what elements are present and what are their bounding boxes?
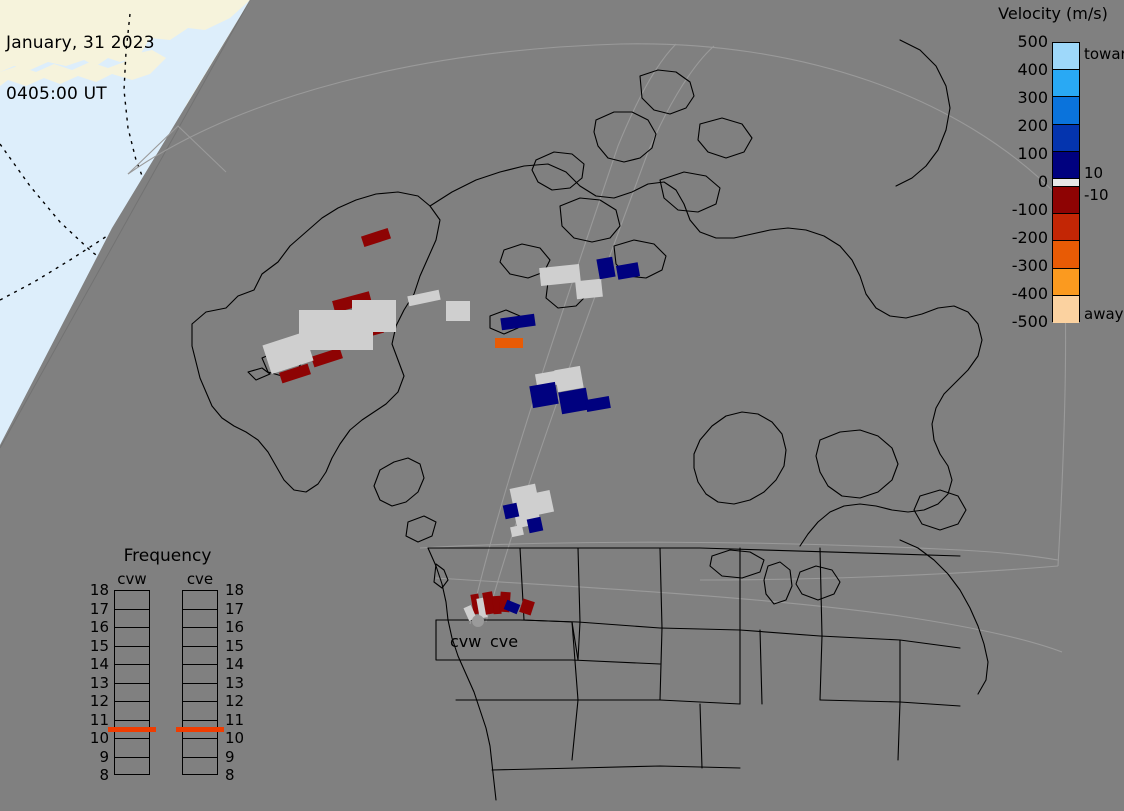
frequency-tick-right-13: 13 bbox=[225, 677, 244, 690]
frequency-tick-left-8: 8 bbox=[99, 769, 109, 782]
frequency-legend-title: Frequency bbox=[85, 546, 250, 566]
velocity-tick--200: -200 bbox=[1012, 231, 1048, 245]
radar-cell bbox=[527, 517, 544, 534]
frequency-marker-cve bbox=[176, 727, 224, 732]
velocity-band-250 bbox=[1053, 97, 1079, 124]
frequency-segment bbox=[183, 758, 217, 777]
velocity-tick--300: -300 bbox=[1012, 259, 1048, 273]
frequency-segment bbox=[183, 610, 217, 629]
radar-site-dot bbox=[472, 615, 484, 627]
frequency-tick-right-18: 18 bbox=[225, 584, 244, 597]
frequency-tick-right-16: 16 bbox=[225, 621, 244, 634]
frequency-segment bbox=[115, 628, 149, 647]
frequency-segment bbox=[183, 684, 217, 703]
velocity-gs-upper-label: 10 bbox=[1084, 166, 1103, 180]
frequency-tick-right-9: 9 bbox=[225, 751, 235, 764]
velocity-tick-300: 300 bbox=[1017, 91, 1048, 105]
velocity-tick-200: 200 bbox=[1017, 119, 1048, 133]
timestamp-date: January, 31 2023 bbox=[6, 35, 155, 52]
velocity-gs-lower-label: -10 bbox=[1084, 188, 1109, 202]
frequency-tick-left-18: 18 bbox=[90, 584, 109, 597]
frequency-column-label-cve: cve bbox=[173, 570, 227, 588]
velocity-band-450 bbox=[1053, 43, 1079, 70]
radar-cell bbox=[503, 503, 520, 520]
frequency-segment bbox=[183, 647, 217, 666]
velocity-tick--100: -100 bbox=[1012, 203, 1048, 217]
frequency-tick-right-11: 11 bbox=[225, 714, 244, 727]
velocity-legend-title: Velocity (m/s) bbox=[982, 4, 1124, 23]
frequency-tick-right-12: 12 bbox=[225, 695, 244, 708]
frequency-tick-left-10: 10 bbox=[90, 732, 109, 745]
radar-cell bbox=[352, 300, 396, 332]
velocity-band--350 bbox=[1053, 269, 1079, 296]
velocity-band--250 bbox=[1053, 241, 1079, 268]
frequency-bar-cvw bbox=[114, 590, 150, 775]
frequency-tick-left-15: 15 bbox=[90, 640, 109, 653]
frequency-segment bbox=[183, 702, 217, 721]
frequency-segment bbox=[115, 610, 149, 629]
frequency-tick-left-12: 12 bbox=[90, 695, 109, 708]
frequency-column-label-cvw: cvw bbox=[105, 570, 159, 588]
timestamp-block: January, 31 2023 0405:00 UT bbox=[6, 1, 155, 137]
frequency-segment bbox=[115, 665, 149, 684]
superdarn-map-view: January, 31 2023 0405:00 UT cvw cve Velo… bbox=[0, 0, 1124, 811]
velocity-tick-400: 400 bbox=[1017, 63, 1048, 77]
frequency-segment bbox=[115, 702, 149, 721]
radar-cell bbox=[596, 257, 615, 279]
frequency-tick-left-13: 13 bbox=[90, 677, 109, 690]
frequency-tick-right-8: 8 bbox=[225, 769, 235, 782]
velocity-band--50 bbox=[1053, 187, 1079, 214]
frequency-tick-right-14: 14 bbox=[225, 658, 244, 671]
frequency-segment bbox=[183, 739, 217, 758]
frequency-tick-left-11: 11 bbox=[90, 714, 109, 727]
frequency-segment bbox=[115, 684, 149, 703]
station-label-cve: cve bbox=[490, 632, 518, 651]
velocity-band--150 bbox=[1053, 214, 1079, 241]
frequency-tick-left-16: 16 bbox=[90, 621, 109, 634]
frequency-tick-left-14: 14 bbox=[90, 658, 109, 671]
velocity-away-label: away bbox=[1084, 307, 1124, 321]
frequency-segment bbox=[183, 591, 217, 610]
frequency-segment bbox=[115, 739, 149, 758]
frequency-segment bbox=[183, 665, 217, 684]
velocity-legend: Velocity (m/s) 5004003002001000-100-200-… bbox=[978, 2, 1124, 332]
station-label-cvw: cvw bbox=[450, 632, 481, 651]
velocity-colorbar bbox=[1052, 42, 1080, 322]
radar-cell bbox=[495, 338, 523, 348]
frequency-tick-right-10: 10 bbox=[225, 732, 244, 745]
timestamp-time: 0405:00 UT bbox=[6, 86, 155, 103]
radar-cell bbox=[529, 382, 558, 408]
frequency-segment bbox=[183, 628, 217, 647]
velocity-tick-0: 0 bbox=[1038, 175, 1048, 189]
velocity-tick--500: -500 bbox=[1012, 315, 1048, 329]
radar-cell bbox=[554, 366, 583, 392]
frequency-segment bbox=[115, 758, 149, 777]
velocity-toward-label: toward bbox=[1084, 47, 1124, 61]
velocity-tick-100: 100 bbox=[1017, 147, 1048, 161]
velocity-band-50 bbox=[1053, 152, 1079, 179]
frequency-segment bbox=[115, 591, 149, 610]
radar-cell bbox=[446, 301, 470, 321]
frequency-legend: Frequency cvw cve 1818171716161515141413… bbox=[85, 546, 250, 786]
velocity-tick-500: 500 bbox=[1017, 35, 1048, 49]
frequency-tick-right-15: 15 bbox=[225, 640, 244, 653]
frequency-segment bbox=[115, 647, 149, 666]
radar-cell bbox=[575, 279, 603, 300]
frequency-tick-left-17: 17 bbox=[90, 603, 109, 616]
frequency-marker-cvw bbox=[108, 727, 156, 732]
velocity-band-350 bbox=[1053, 70, 1079, 97]
velocity-band--450 bbox=[1053, 296, 1079, 323]
velocity-band-0 bbox=[1053, 179, 1079, 187]
frequency-bar-cve bbox=[182, 590, 218, 775]
frequency-tick-right-17: 17 bbox=[225, 603, 244, 616]
frequency-tick-left-9: 9 bbox=[99, 751, 109, 764]
velocity-band-150 bbox=[1053, 125, 1079, 152]
velocity-tick--400: -400 bbox=[1012, 287, 1048, 301]
